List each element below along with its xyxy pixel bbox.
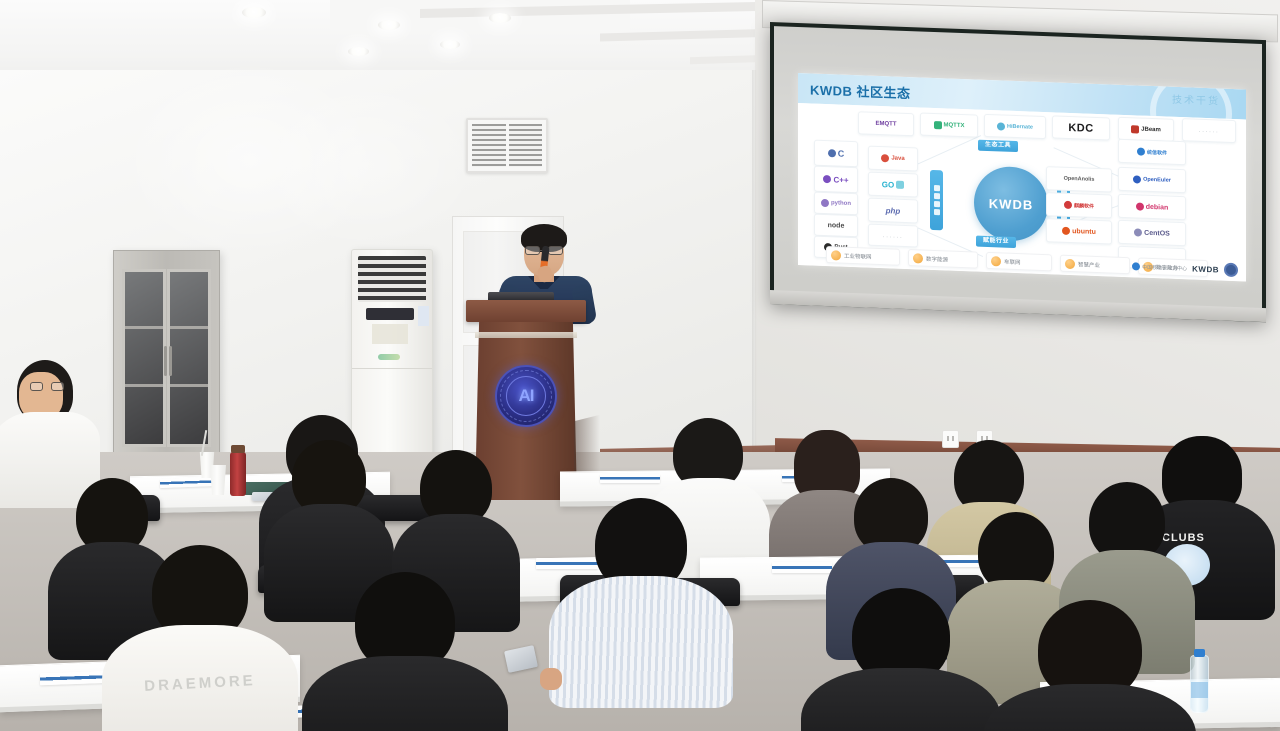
python-icon xyxy=(821,199,829,207)
os-logo-openanolis: OpenAnolis xyxy=(1046,166,1112,192)
mqttx-icon xyxy=(934,120,942,128)
lang-logo-label: C++ xyxy=(833,175,848,185)
kwdb-core-circle: KWDB xyxy=(974,165,1048,242)
hibernate-icon xyxy=(997,122,1005,130)
c-lang-icon xyxy=(828,149,836,157)
os-logo-label: 统信软件 xyxy=(1147,148,1167,156)
glasses-lens xyxy=(548,246,563,255)
industry-icon xyxy=(831,250,841,260)
tool-logo-label: ...... xyxy=(1199,127,1220,135)
water-bottle[interactable] xyxy=(1190,655,1209,713)
recessed-downlight xyxy=(489,13,511,23)
tool-logo-label: KDC xyxy=(1068,121,1093,134)
audience-person-front-striped xyxy=(556,498,726,678)
os-logo-label: CentOS xyxy=(1144,229,1170,237)
person-shirt xyxy=(302,656,508,731)
industry-item-2: 车联网 xyxy=(986,252,1052,271)
lang-logo-c: C xyxy=(814,140,858,168)
tool-logo-label: EMQTT xyxy=(876,120,897,127)
recessed-downlight xyxy=(378,20,400,30)
os-logo-uniontech: 统信软件 xyxy=(1118,139,1186,165)
java-icon xyxy=(881,154,889,162)
vent-louvers xyxy=(472,124,506,167)
lang-logo-label: python xyxy=(831,200,851,207)
ventilation-grille-icon xyxy=(466,118,548,173)
audience-person-front-b xyxy=(310,572,500,731)
glasses-lens xyxy=(525,246,540,255)
cabinet-door-left[interactable] xyxy=(122,269,166,447)
industry-item-3: 智慧产业 xyxy=(1060,255,1130,275)
recessed-downlight xyxy=(348,47,369,56)
emblem-ring xyxy=(500,370,552,422)
bottle-label xyxy=(1191,682,1208,698)
kylin-icon xyxy=(1064,201,1072,209)
lang-logo-php: php xyxy=(868,198,918,224)
slide-footer-brand: KWDB xyxy=(1192,264,1219,274)
tool-logo-mqttx: MQTTX xyxy=(920,113,978,138)
industry-label: 车联网 xyxy=(1004,257,1021,266)
wall-corner xyxy=(752,70,757,470)
cabinet-shelf xyxy=(125,384,163,387)
ac-air-grille xyxy=(358,256,426,302)
person-shirt xyxy=(801,668,1001,731)
os-logo-ubuntu: ubuntu xyxy=(1046,218,1112,244)
hand xyxy=(540,668,562,690)
lang-logo-java: Java xyxy=(868,146,918,172)
go-icon xyxy=(896,181,904,189)
tool-logo-label: HiBernate xyxy=(1007,123,1033,130)
lang-logo-label: node xyxy=(828,222,845,230)
audience-person-side-left xyxy=(0,360,90,490)
os-logo-centos: CentOS xyxy=(1118,220,1186,246)
projector-screen: KWDB 社区生态 技术干货 EMQTT MQTTX xyxy=(770,22,1266,322)
tool-logo-hibernate: HiBernate xyxy=(984,114,1046,139)
lang-logo-more: ...... xyxy=(868,224,918,248)
ac-decoration xyxy=(378,354,400,360)
lang-logo-python: python xyxy=(814,192,858,216)
os-logo-debian: debian xyxy=(1118,194,1186,220)
slide-title: KWDB 社区生态 xyxy=(810,79,911,102)
cabinet-handle[interactable] xyxy=(169,346,172,376)
os-logo-label: OpenAnolis xyxy=(1064,176,1095,183)
badge-tick xyxy=(934,209,940,215)
tool-logo-more: ...... xyxy=(1182,118,1236,143)
audience-person-draemore: DRAEMORE xyxy=(110,545,290,731)
screen-surface: KWDB 社区生态 技术干货 EMQTT MQTTX xyxy=(774,26,1262,318)
lecture-hall-scene: KWDB 社区生态 技术干货 EMQTT MQTTX xyxy=(0,0,1280,731)
cabinet-glass xyxy=(125,272,163,444)
lang-logo-label: GO xyxy=(882,180,894,189)
tool-logo-emqtt: EMQTT xyxy=(858,111,914,136)
os-logo-label: ubuntu xyxy=(1072,228,1096,236)
centos-icon xyxy=(1134,228,1142,236)
industry-icon xyxy=(1065,258,1075,268)
badge-tick xyxy=(934,193,940,199)
podium-stripe xyxy=(475,332,577,338)
university-seal-icon xyxy=(1224,263,1238,278)
cabinet-shelf xyxy=(125,326,163,329)
glasses-lens xyxy=(30,382,43,391)
openeuler-icon xyxy=(1133,175,1141,183)
ubuntu-icon xyxy=(1062,227,1070,235)
wall-light-pool xyxy=(250,80,480,250)
podium-top xyxy=(466,300,586,322)
cabinet-handle[interactable] xyxy=(164,346,167,376)
os-logo-label: OpenEuler xyxy=(1143,177,1171,184)
ac-seam xyxy=(352,368,432,369)
ac-energy-label xyxy=(418,306,429,326)
presentation-slide: KWDB 社区生态 技术干货 EMQTT MQTTX xyxy=(798,73,1246,281)
cabinet-glass xyxy=(170,272,208,444)
person-shirt xyxy=(984,684,1196,731)
tool-logo-label: MQTTX xyxy=(944,122,965,129)
industry-icon xyxy=(991,256,1001,266)
tool-logo-label: JBeam xyxy=(1141,126,1161,133)
badge-industries: 赋能行业 xyxy=(976,236,1016,248)
lang-logo-cpp: C++ xyxy=(814,166,858,194)
badge-dev-languages xyxy=(930,170,943,230)
lang-logo-go: GO xyxy=(868,172,918,198)
glasses-icon xyxy=(30,382,64,391)
industry-label: 智慧产业 xyxy=(1078,260,1100,269)
person-shirt xyxy=(549,576,733,708)
industry-label: 数字能源 xyxy=(926,254,948,263)
bottle-cap xyxy=(1194,649,1205,657)
lang-logo-label: php xyxy=(886,206,901,216)
ac-display-panel[interactable] xyxy=(366,308,414,320)
tool-logo-kdc: KDC xyxy=(1052,115,1110,140)
vent-louvers xyxy=(509,124,543,167)
org-label: 中国移动云能力中心 xyxy=(1142,263,1187,272)
industry-item-1: 数字能源 xyxy=(908,249,978,269)
recessed-downlight xyxy=(440,40,460,49)
cabinet-shelf xyxy=(170,384,208,387)
os-logo-kylin: 麒麟软件 xyxy=(1046,192,1112,218)
recessed-downlight xyxy=(242,7,266,18)
os-logo-label: 麒麟软件 xyxy=(1074,202,1094,210)
diagram-connector xyxy=(918,135,981,164)
thermos-cap xyxy=(231,445,245,453)
industry-item-0: 工业物联网 xyxy=(826,246,900,266)
red-thermos xyxy=(230,452,246,496)
os-logo-label: debian xyxy=(1146,203,1169,211)
slide-header-watermark: 技术干货 xyxy=(1172,91,1220,108)
debian-icon xyxy=(1136,202,1144,210)
cabinet-shelf xyxy=(170,326,208,329)
badge-tick xyxy=(934,201,940,207)
jbeam-icon xyxy=(1131,125,1139,133)
cabinet-door-right[interactable] xyxy=(167,269,211,447)
lang-logo-label: Java xyxy=(891,155,904,161)
os-logo-openeuler: OpenEuler xyxy=(1118,167,1186,193)
lang-logo-label: C xyxy=(838,148,845,158)
industry-icon xyxy=(913,253,923,263)
badge-ecosystem-tools: 生态工具 xyxy=(978,140,1018,152)
slide-body: EMQTT MQTTX HiBernate KDC xyxy=(798,103,1246,281)
tool-logo-jbeam: JBeam xyxy=(1118,117,1174,142)
lang-logo-label: ...... xyxy=(883,232,904,240)
glasses-lens xyxy=(51,382,64,391)
podium-emblem-ai: AI xyxy=(495,365,557,427)
handout-paper xyxy=(772,562,832,573)
lang-logo-node: node xyxy=(814,214,858,238)
uniontech-icon xyxy=(1137,147,1145,155)
cpp-lang-icon xyxy=(823,175,831,183)
badge-tick xyxy=(934,185,940,191)
ac-brand-label xyxy=(372,324,408,344)
org-icon xyxy=(1132,262,1140,270)
slide-footer-org: 中国移动云能力中心 xyxy=(1132,262,1187,272)
audience-person-front-d xyxy=(990,600,1190,731)
audience-person-front-c xyxy=(806,588,996,731)
industry-label: 工业物联网 xyxy=(844,251,872,260)
